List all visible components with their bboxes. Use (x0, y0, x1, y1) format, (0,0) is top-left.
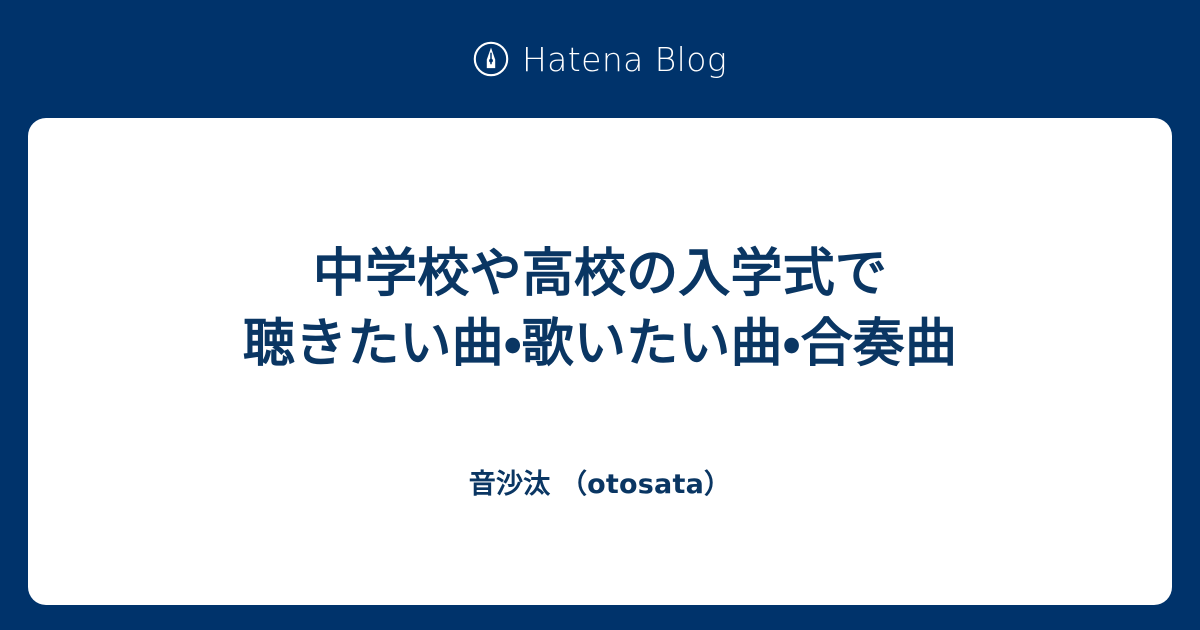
entry-title: 中学校や高校の入学式で 聴きたい曲・歌いたい曲・合奏曲 (28, 240, 1172, 379)
entry-card: 中学校や高校の入学式で 聴きたい曲・歌いたい曲・合奏曲 音沙汰 （otosata… (28, 118, 1172, 605)
hatena-pen-nib-icon (473, 41, 509, 77)
entry-title-line-1: 中学校や高校の入学式で (313, 244, 887, 304)
hatena-blog-brand-bar[interactable]: Hatena Blog (0, 0, 1200, 118)
entry-title-line-2: 聴きたい曲・歌いたい曲・合奏曲 (243, 314, 957, 374)
ogp-card-canvas: Hatena Blog 中学校や高校の入学式で 聴きたい曲・歌いたい曲・合奏曲 … (0, 0, 1200, 630)
blog-name: 音沙汰 （otosata） (28, 467, 1172, 502)
hatena-blog-wordmark: Hatena Blog (522, 43, 727, 76)
